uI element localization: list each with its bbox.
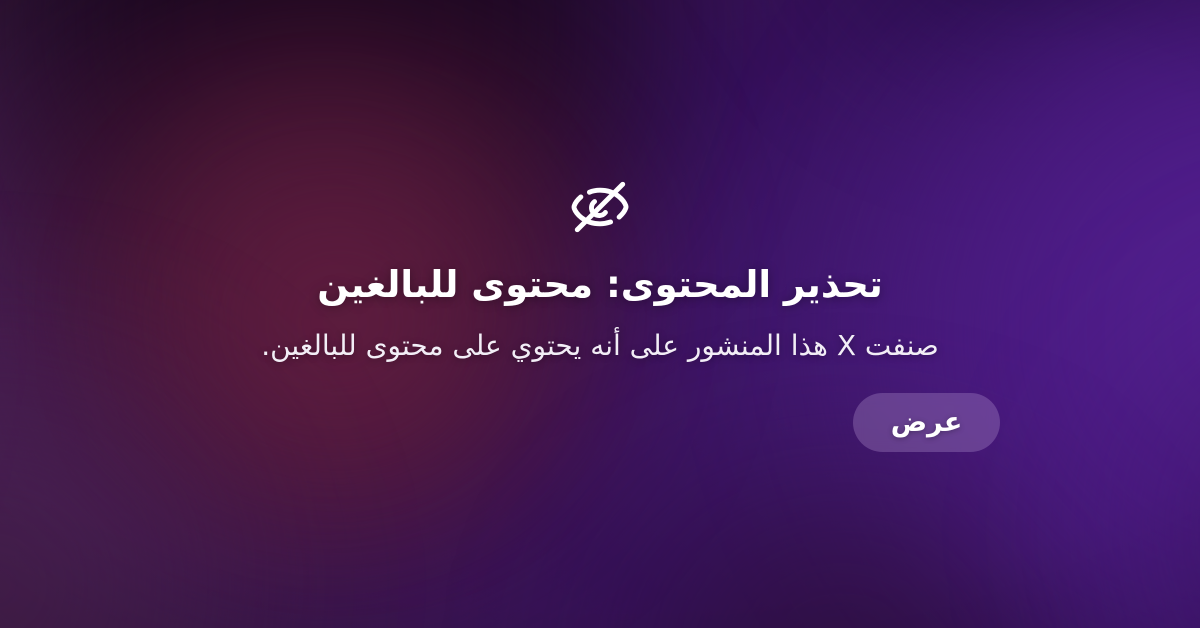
page-title: تحذير المحتوى: محتوى للبالغين	[317, 262, 883, 307]
warning-description: صنفت X هذا المنشور على أنه يحتوي على محت…	[261, 327, 939, 365]
warning-actions: عرض	[200, 393, 1000, 452]
view-button[interactable]: عرض	[853, 393, 1000, 452]
warning-content: تحذير المحتوى: محتوى للبالغين صنفت X هذا…	[0, 0, 1200, 628]
eye-off-icon	[569, 176, 631, 238]
content-warning-card: تحذير المحتوى: محتوى للبالغين صنفت X هذا…	[0, 0, 1200, 628]
